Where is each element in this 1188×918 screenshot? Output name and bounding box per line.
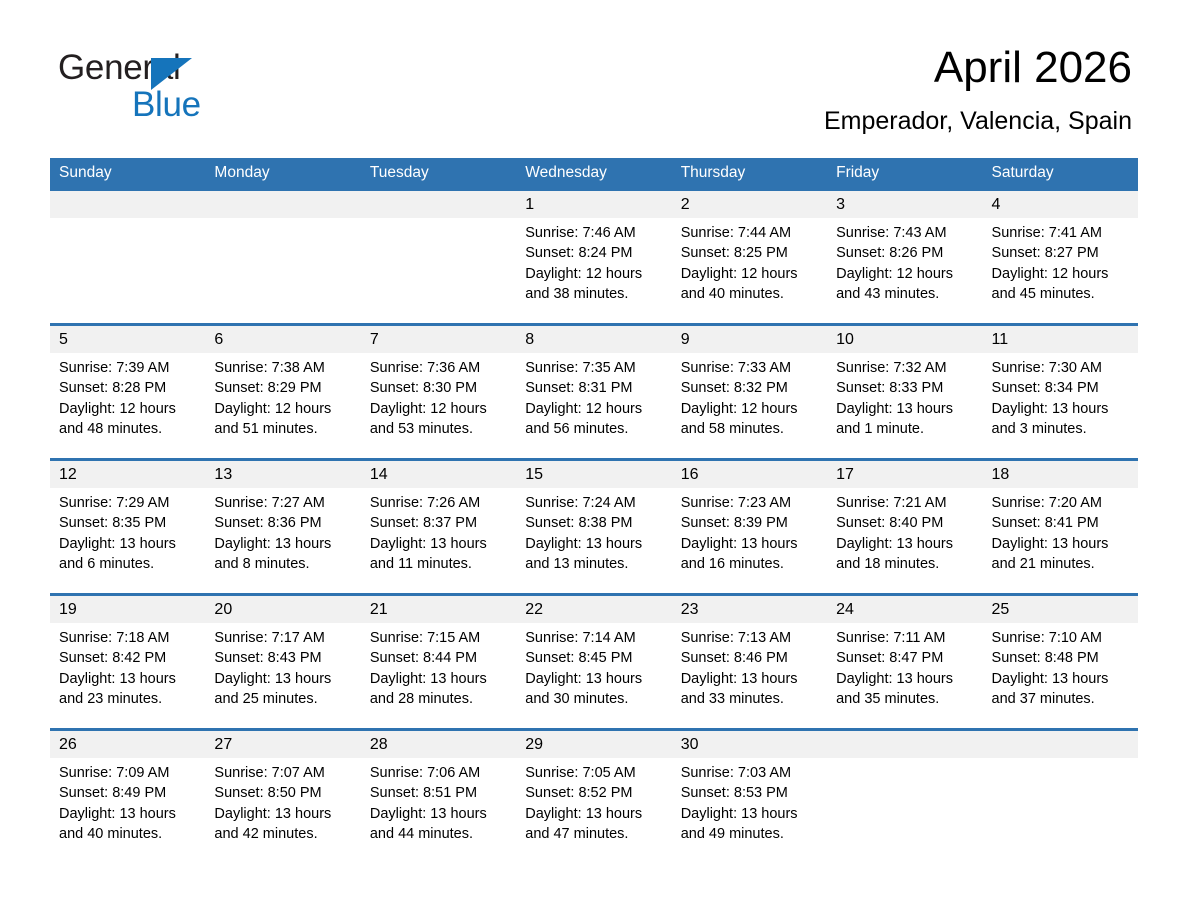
day-number: 28 [361, 731, 516, 758]
sunrise-text: Sunrise: 7:35 AM [525, 358, 665, 378]
daylight-text-line2: and 28 minutes. [370, 689, 510, 709]
day-cell[interactable]: 12 Sunrise: 7:29 AM Sunset: 8:35 PM Dayl… [50, 461, 205, 593]
daylight-text-line1: Daylight: 13 hours [370, 669, 510, 689]
sunset-text: Sunset: 8:52 PM [525, 783, 665, 803]
daylight-text-line1: Daylight: 13 hours [370, 804, 510, 824]
day-details: Sunrise: 7:21 AM Sunset: 8:40 PM Dayligh… [827, 488, 982, 574]
daylight-text-line1: Daylight: 13 hours [681, 804, 821, 824]
sunset-text: Sunset: 8:31 PM [525, 378, 665, 398]
day-cell[interactable]: 14 Sunrise: 7:26 AM Sunset: 8:37 PM Dayl… [361, 461, 516, 593]
daylight-text-line2: and 21 minutes. [992, 554, 1132, 574]
day-number: 16 [672, 461, 827, 488]
day-number: 19 [50, 596, 205, 623]
sunrise-text: Sunrise: 7:36 AM [370, 358, 510, 378]
daylight-text-line1: Daylight: 13 hours [525, 669, 665, 689]
day-details: Sunrise: 7:27 AM Sunset: 8:36 PM Dayligh… [205, 488, 360, 574]
sunset-text: Sunset: 8:32 PM [681, 378, 821, 398]
day-number: 12 [50, 461, 205, 488]
logo-text-blue: Blue [132, 85, 201, 125]
day-cell[interactable]: 18 Sunrise: 7:20 AM Sunset: 8:41 PM Dayl… [983, 461, 1138, 593]
daylight-text-line2: and 51 minutes. [214, 419, 354, 439]
daylight-text-line2: and 6 minutes. [59, 554, 199, 574]
daylight-text-line1: Daylight: 13 hours [370, 534, 510, 554]
sunset-text: Sunset: 8:51 PM [370, 783, 510, 803]
day-cell[interactable]: 24 Sunrise: 7:11 AM Sunset: 8:47 PM Dayl… [827, 596, 982, 728]
sunrise-text: Sunrise: 7:20 AM [992, 493, 1132, 513]
sunrise-text: Sunrise: 7:39 AM [59, 358, 199, 378]
daylight-text-line2: and 42 minutes. [214, 824, 354, 844]
day-details [50, 218, 205, 223]
day-details: Sunrise: 7:07 AM Sunset: 8:50 PM Dayligh… [205, 758, 360, 844]
sunset-text: Sunset: 8:42 PM [59, 648, 199, 668]
day-cell[interactable]: 2 Sunrise: 7:44 AM Sunset: 8:25 PM Dayli… [672, 191, 827, 323]
day-details: Sunrise: 7:24 AM Sunset: 8:38 PM Dayligh… [516, 488, 671, 574]
sunset-text: Sunset: 8:26 PM [836, 243, 976, 263]
day-details: Sunrise: 7:38 AM Sunset: 8:29 PM Dayligh… [205, 353, 360, 439]
day-details: Sunrise: 7:09 AM Sunset: 8:49 PM Dayligh… [50, 758, 205, 844]
day-details: Sunrise: 7:39 AM Sunset: 8:28 PM Dayligh… [50, 353, 205, 439]
day-number: 30 [672, 731, 827, 758]
sunrise-text: Sunrise: 7:41 AM [992, 223, 1132, 243]
daylight-text-line2: and 16 minutes. [681, 554, 821, 574]
page-header: General Blue April 2026 Emperador, Valen… [0, 0, 1188, 158]
page-subtitle: Emperador, Valencia, Spain [824, 106, 1132, 136]
daylight-text-line2: and 37 minutes. [992, 689, 1132, 709]
sunrise-text: Sunrise: 7:06 AM [370, 763, 510, 783]
sunrise-text: Sunrise: 7:10 AM [992, 628, 1132, 648]
sunrise-text: Sunrise: 7:23 AM [681, 493, 821, 513]
sunset-text: Sunset: 8:46 PM [681, 648, 821, 668]
daylight-text-line1: Daylight: 13 hours [836, 669, 976, 689]
sunrise-text: Sunrise: 7:14 AM [525, 628, 665, 648]
sunset-text: Sunset: 8:24 PM [525, 243, 665, 263]
day-number: 15 [516, 461, 671, 488]
daylight-text-line2: and 35 minutes. [836, 689, 976, 709]
daylight-text-line2: and 25 minutes. [214, 689, 354, 709]
daylight-text-line2: and 18 minutes. [836, 554, 976, 574]
day-number: 29 [516, 731, 671, 758]
day-number: 13 [205, 461, 360, 488]
daylight-text-line2: and 53 minutes. [370, 419, 510, 439]
sunset-text: Sunset: 8:25 PM [681, 243, 821, 263]
day-cell[interactable]: 8 Sunrise: 7:35 AM Sunset: 8:31 PM Dayli… [516, 326, 671, 458]
daylight-text-line1: Daylight: 13 hours [681, 669, 821, 689]
day-number: 2 [672, 191, 827, 218]
weekday-header-tuesday: Tuesday [361, 158, 516, 188]
daylight-text-line1: Daylight: 13 hours [214, 669, 354, 689]
day-details: Sunrise: 7:18 AM Sunset: 8:42 PM Dayligh… [50, 623, 205, 709]
daylight-text-line1: Daylight: 13 hours [59, 804, 199, 824]
day-details: Sunrise: 7:13 AM Sunset: 8:46 PM Dayligh… [672, 623, 827, 709]
day-cell[interactable]: 13 Sunrise: 7:27 AM Sunset: 8:36 PM Dayl… [205, 461, 360, 593]
day-number [50, 191, 205, 218]
day-details: Sunrise: 7:46 AM Sunset: 8:24 PM Dayligh… [516, 218, 671, 304]
day-number: 24 [827, 596, 982, 623]
day-details [983, 758, 1138, 763]
day-details: Sunrise: 7:20 AM Sunset: 8:41 PM Dayligh… [983, 488, 1138, 574]
sunrise-text: Sunrise: 7:05 AM [525, 763, 665, 783]
day-cell[interactable] [205, 191, 360, 323]
daylight-text-line1: Daylight: 13 hours [681, 534, 821, 554]
daylight-text-line1: Daylight: 13 hours [992, 669, 1132, 689]
day-number: 22 [516, 596, 671, 623]
day-details: Sunrise: 7:26 AM Sunset: 8:37 PM Dayligh… [361, 488, 516, 574]
sunset-text: Sunset: 8:37 PM [370, 513, 510, 533]
daylight-text-line1: Daylight: 13 hours [214, 534, 354, 554]
day-number: 8 [516, 326, 671, 353]
daylight-text-line1: Daylight: 13 hours [992, 399, 1132, 419]
weekday-header-sunday: Sunday [50, 158, 205, 188]
sunset-text: Sunset: 8:45 PM [525, 648, 665, 668]
day-cell[interactable]: 3 Sunrise: 7:43 AM Sunset: 8:26 PM Dayli… [827, 191, 982, 323]
daylight-text-line2: and 47 minutes. [525, 824, 665, 844]
day-cell[interactable]: 5 Sunrise: 7:39 AM Sunset: 8:28 PM Dayli… [50, 326, 205, 458]
day-cell[interactable]: 15 Sunrise: 7:24 AM Sunset: 8:38 PM Dayl… [516, 461, 671, 593]
daylight-text-line2: and 58 minutes. [681, 419, 821, 439]
day-number: 10 [827, 326, 982, 353]
daylight-text-line2: and 49 minutes. [681, 824, 821, 844]
daylight-text-line1: Daylight: 12 hours [370, 399, 510, 419]
daylight-text-line1: Daylight: 13 hours [992, 534, 1132, 554]
day-number: 26 [50, 731, 205, 758]
daylight-text-line1: Daylight: 13 hours [525, 534, 665, 554]
day-cell[interactable] [361, 191, 516, 323]
day-cell[interactable]: 1 Sunrise: 7:46 AM Sunset: 8:24 PM Dayli… [516, 191, 671, 323]
daylight-text-line2: and 56 minutes. [525, 419, 665, 439]
day-cell[interactable]: 19 Sunrise: 7:18 AM Sunset: 8:42 PM Dayl… [50, 596, 205, 728]
day-number: 25 [983, 596, 1138, 623]
day-cell[interactable]: 26 Sunrise: 7:09 AM Sunset: 8:49 PM Dayl… [50, 731, 205, 863]
day-number: 11 [983, 326, 1138, 353]
day-details: Sunrise: 7:29 AM Sunset: 8:35 PM Dayligh… [50, 488, 205, 574]
sunrise-text: Sunrise: 7:32 AM [836, 358, 976, 378]
day-cell[interactable]: 16 Sunrise: 7:23 AM Sunset: 8:39 PM Dayl… [672, 461, 827, 593]
daylight-text-line2: and 43 minutes. [836, 284, 976, 304]
day-number: 1 [516, 191, 671, 218]
day-cell[interactable]: 21 Sunrise: 7:15 AM Sunset: 8:44 PM Dayl… [361, 596, 516, 728]
sunrise-text: Sunrise: 7:15 AM [370, 628, 510, 648]
day-details: Sunrise: 7:17 AM Sunset: 8:43 PM Dayligh… [205, 623, 360, 709]
daylight-text-line2: and 11 minutes. [370, 554, 510, 574]
sunset-text: Sunset: 8:33 PM [836, 378, 976, 398]
day-details: Sunrise: 7:41 AM Sunset: 8:27 PM Dayligh… [983, 218, 1138, 304]
day-number: 23 [672, 596, 827, 623]
day-number: 18 [983, 461, 1138, 488]
day-cell[interactable]: 22 Sunrise: 7:14 AM Sunset: 8:45 PM Dayl… [516, 596, 671, 728]
sunrise-text: Sunrise: 7:09 AM [59, 763, 199, 783]
day-number: 27 [205, 731, 360, 758]
day-details: Sunrise: 7:06 AM Sunset: 8:51 PM Dayligh… [361, 758, 516, 844]
week-row: 12 Sunrise: 7:29 AM Sunset: 8:35 PM Dayl… [50, 458, 1138, 593]
calendar-page: General Blue April 2026 Emperador, Valen… [0, 0, 1188, 918]
day-number [983, 731, 1138, 758]
daylight-text-line2: and 13 minutes. [525, 554, 665, 574]
day-cell[interactable]: 20 Sunrise: 7:17 AM Sunset: 8:43 PM Dayl… [205, 596, 360, 728]
day-number: 21 [361, 596, 516, 623]
day-number [827, 731, 982, 758]
sunset-text: Sunset: 8:28 PM [59, 378, 199, 398]
page-title: April 2026 [824, 42, 1132, 94]
day-details: Sunrise: 7:36 AM Sunset: 8:30 PM Dayligh… [361, 353, 516, 439]
day-cell[interactable]: 17 Sunrise: 7:21 AM Sunset: 8:40 PM Dayl… [827, 461, 982, 593]
sunrise-text: Sunrise: 7:21 AM [836, 493, 976, 513]
day-cell[interactable] [827, 731, 982, 863]
day-cell[interactable]: 6 Sunrise: 7:38 AM Sunset: 8:29 PM Dayli… [205, 326, 360, 458]
sunrise-text: Sunrise: 7:26 AM [370, 493, 510, 513]
sunset-text: Sunset: 8:34 PM [992, 378, 1132, 398]
sunrise-text: Sunrise: 7:17 AM [214, 628, 354, 648]
week-row: 1 Sunrise: 7:46 AM Sunset: 8:24 PM Dayli… [50, 188, 1138, 323]
daylight-text-line2: and 3 minutes. [992, 419, 1132, 439]
sunset-text: Sunset: 8:41 PM [992, 513, 1132, 533]
daylight-text-line2: and 44 minutes. [370, 824, 510, 844]
sunset-text: Sunset: 8:27 PM [992, 243, 1132, 263]
day-number [205, 191, 360, 218]
day-cell[interactable]: 29 Sunrise: 7:05 AM Sunset: 8:52 PM Dayl… [516, 731, 671, 863]
daylight-text-line1: Daylight: 12 hours [525, 264, 665, 284]
day-details: Sunrise: 7:15 AM Sunset: 8:44 PM Dayligh… [361, 623, 516, 709]
day-cell[interactable]: 27 Sunrise: 7:07 AM Sunset: 8:50 PM Dayl… [205, 731, 360, 863]
generalblue-logo[interactable]: General Blue [58, 48, 318, 124]
day-cell[interactable]: 30 Sunrise: 7:03 AM Sunset: 8:53 PM Dayl… [672, 731, 827, 863]
day-number: 3 [827, 191, 982, 218]
sunset-text: Sunset: 8:39 PM [681, 513, 821, 533]
day-number: 4 [983, 191, 1138, 218]
sunset-text: Sunset: 8:36 PM [214, 513, 354, 533]
day-details [361, 218, 516, 223]
sunrise-text: Sunrise: 7:24 AM [525, 493, 665, 513]
daylight-text-line2: and 33 minutes. [681, 689, 821, 709]
title-block: April 2026 Emperador, Valencia, Spain [824, 42, 1132, 136]
day-cell[interactable]: 9 Sunrise: 7:33 AM Sunset: 8:32 PM Dayli… [672, 326, 827, 458]
day-details: Sunrise: 7:43 AM Sunset: 8:26 PM Dayligh… [827, 218, 982, 304]
daylight-text-line2: and 48 minutes. [59, 419, 199, 439]
sunset-text: Sunset: 8:29 PM [214, 378, 354, 398]
day-cell[interactable]: 7 Sunrise: 7:36 AM Sunset: 8:30 PM Dayli… [361, 326, 516, 458]
sunset-text: Sunset: 8:38 PM [525, 513, 665, 533]
day-details: Sunrise: 7:32 AM Sunset: 8:33 PM Dayligh… [827, 353, 982, 439]
daylight-text-line1: Daylight: 13 hours [214, 804, 354, 824]
day-details: Sunrise: 7:14 AM Sunset: 8:45 PM Dayligh… [516, 623, 671, 709]
daylight-text-line2: and 8 minutes. [214, 554, 354, 574]
sunset-text: Sunset: 8:40 PM [836, 513, 976, 533]
day-cell[interactable]: 11 Sunrise: 7:30 AM Sunset: 8:34 PM Dayl… [983, 326, 1138, 458]
day-details: Sunrise: 7:30 AM Sunset: 8:34 PM Dayligh… [983, 353, 1138, 439]
daylight-text-line2: and 23 minutes. [59, 689, 199, 709]
day-details: Sunrise: 7:03 AM Sunset: 8:53 PM Dayligh… [672, 758, 827, 844]
day-details: Sunrise: 7:11 AM Sunset: 8:47 PM Dayligh… [827, 623, 982, 709]
day-number: 20 [205, 596, 360, 623]
weekday-header-wednesday: Wednesday [516, 158, 671, 188]
day-cell[interactable] [50, 191, 205, 323]
day-number: 14 [361, 461, 516, 488]
sunrise-text: Sunrise: 7:43 AM [836, 223, 976, 243]
daylight-text-line1: Daylight: 12 hours [681, 399, 821, 419]
daylight-text-line2: and 45 minutes. [992, 284, 1132, 304]
daylight-text-line1: Daylight: 13 hours [836, 534, 976, 554]
sunset-text: Sunset: 8:43 PM [214, 648, 354, 668]
daylight-text-line2: and 40 minutes. [59, 824, 199, 844]
daylight-text-line2: and 40 minutes. [681, 284, 821, 304]
day-details [827, 758, 982, 763]
sunset-text: Sunset: 8:47 PM [836, 648, 976, 668]
weekday-header-friday: Friday [827, 158, 982, 188]
daylight-text-line2: and 1 minute. [836, 419, 976, 439]
day-cell[interactable] [983, 731, 1138, 863]
sunrise-text: Sunrise: 7:11 AM [836, 628, 976, 648]
day-details: Sunrise: 7:33 AM Sunset: 8:32 PM Dayligh… [672, 353, 827, 439]
daylight-text-line1: Daylight: 13 hours [836, 399, 976, 419]
sunrise-text: Sunrise: 7:13 AM [681, 628, 821, 648]
sunrise-text: Sunrise: 7:27 AM [214, 493, 354, 513]
sunset-text: Sunset: 8:35 PM [59, 513, 199, 533]
day-details [205, 218, 360, 223]
day-number: 17 [827, 461, 982, 488]
day-number: 5 [50, 326, 205, 353]
day-cell[interactable]: 23 Sunrise: 7:13 AM Sunset: 8:46 PM Dayl… [672, 596, 827, 728]
day-details: Sunrise: 7:44 AM Sunset: 8:25 PM Dayligh… [672, 218, 827, 304]
sunrise-text: Sunrise: 7:30 AM [992, 358, 1132, 378]
sunset-text: Sunset: 8:53 PM [681, 783, 821, 803]
sunset-text: Sunset: 8:30 PM [370, 378, 510, 398]
sunrise-text: Sunrise: 7:44 AM [681, 223, 821, 243]
weekday-header-monday: Monday [205, 158, 360, 188]
sunrise-text: Sunrise: 7:18 AM [59, 628, 199, 648]
day-details: Sunrise: 7:35 AM Sunset: 8:31 PM Dayligh… [516, 353, 671, 439]
sunset-text: Sunset: 8:50 PM [214, 783, 354, 803]
sunrise-text: Sunrise: 7:29 AM [59, 493, 199, 513]
sunrise-text: Sunrise: 7:33 AM [681, 358, 821, 378]
day-number: 9 [672, 326, 827, 353]
week-row: 19 Sunrise: 7:18 AM Sunset: 8:42 PM Dayl… [50, 593, 1138, 728]
weekday-header-saturday: Saturday [983, 158, 1138, 188]
sunrise-text: Sunrise: 7:46 AM [525, 223, 665, 243]
daylight-text-line1: Daylight: 12 hours [525, 399, 665, 419]
day-cell[interactable]: 4 Sunrise: 7:41 AM Sunset: 8:27 PM Dayli… [983, 191, 1138, 323]
daylight-text-line1: Daylight: 12 hours [992, 264, 1132, 284]
daylight-text-line1: Daylight: 12 hours [59, 399, 199, 419]
day-cell[interactable]: 25 Sunrise: 7:10 AM Sunset: 8:48 PM Dayl… [983, 596, 1138, 728]
daylight-text-line2: and 30 minutes. [525, 689, 665, 709]
daylight-text-line1: Daylight: 12 hours [214, 399, 354, 419]
sunset-text: Sunset: 8:49 PM [59, 783, 199, 803]
weekday-header-row: Sunday Monday Tuesday Wednesday Thursday… [50, 158, 1138, 188]
week-row: 5 Sunrise: 7:39 AM Sunset: 8:28 PM Dayli… [50, 323, 1138, 458]
sunrise-text: Sunrise: 7:07 AM [214, 763, 354, 783]
calendar-grid: Sunday Monday Tuesday Wednesday Thursday… [50, 158, 1138, 863]
sunset-text: Sunset: 8:48 PM [992, 648, 1132, 668]
week-row: 26 Sunrise: 7:09 AM Sunset: 8:49 PM Dayl… [50, 728, 1138, 863]
daylight-text-line1: Daylight: 12 hours [681, 264, 821, 284]
day-details: Sunrise: 7:10 AM Sunset: 8:48 PM Dayligh… [983, 623, 1138, 709]
daylight-text-line1: Daylight: 13 hours [59, 534, 199, 554]
day-number: 6 [205, 326, 360, 353]
day-cell[interactable]: 28 Sunrise: 7:06 AM Sunset: 8:51 PM Dayl… [361, 731, 516, 863]
day-number [361, 191, 516, 218]
daylight-text-line1: Daylight: 12 hours [836, 264, 976, 284]
day-cell[interactable]: 10 Sunrise: 7:32 AM Sunset: 8:33 PM Dayl… [827, 326, 982, 458]
day-details: Sunrise: 7:23 AM Sunset: 8:39 PM Dayligh… [672, 488, 827, 574]
daylight-text-line1: Daylight: 13 hours [525, 804, 665, 824]
sunrise-text: Sunrise: 7:38 AM [214, 358, 354, 378]
sunrise-text: Sunrise: 7:03 AM [681, 763, 821, 783]
day-number: 7 [361, 326, 516, 353]
day-details: Sunrise: 7:05 AM Sunset: 8:52 PM Dayligh… [516, 758, 671, 844]
daylight-text-line1: Daylight: 13 hours [59, 669, 199, 689]
sunset-text: Sunset: 8:44 PM [370, 648, 510, 668]
weekday-header-thursday: Thursday [672, 158, 827, 188]
daylight-text-line2: and 38 minutes. [525, 284, 665, 304]
